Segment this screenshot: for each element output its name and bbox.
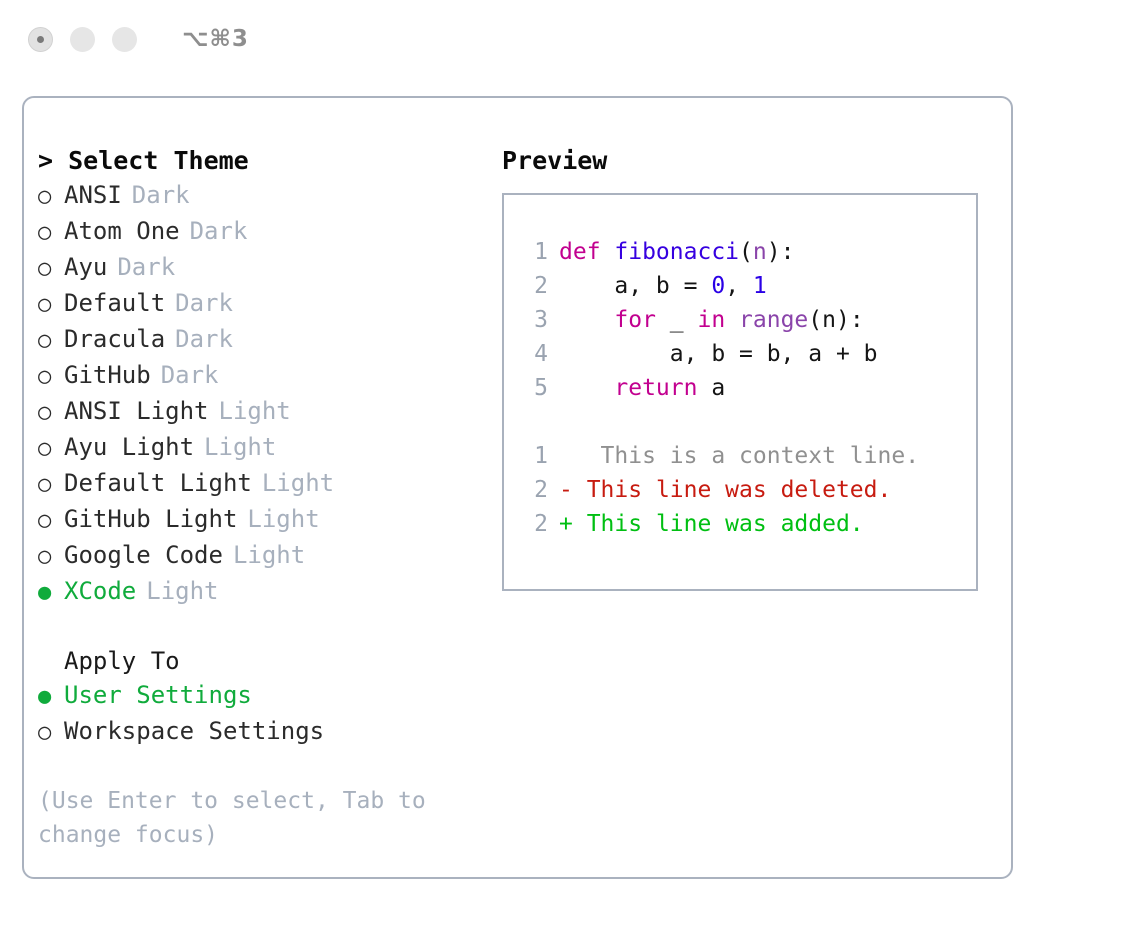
theme-option-ansi-light[interactable]: ○ANSI LightLight [38, 394, 468, 430]
line-number: 1 [518, 439, 548, 473]
radio-unselected-icon: ○ [38, 716, 64, 750]
code-line-content: a, b = 0, 1 [559, 269, 767, 303]
code-token: range [739, 307, 808, 333]
code-token: ( [739, 239, 753, 265]
theme-option-label: Dracula [64, 322, 165, 356]
radio-unselected-icon: ○ [38, 468, 64, 502]
theme-option-label: Atom One [64, 214, 180, 248]
theme-option-github[interactable]: ○GitHubDark [38, 358, 468, 394]
theme-option-atom-one[interactable]: ○Atom OneDark [38, 214, 468, 250]
theme-variant-badge: Light [204, 430, 276, 464]
preview-column: Preview 1def fibonacci(n):2 a, b = 0, 13… [502, 144, 1002, 591]
code-token: (n): [808, 307, 863, 333]
radio-unselected-icon: ○ [38, 216, 64, 250]
line-number: 5 [518, 371, 548, 405]
radio-unselected-icon: ○ [38, 180, 64, 214]
theme-variant-badge: Dark [175, 322, 233, 356]
theme-option-ayu[interactable]: ○AyuDark [38, 250, 468, 286]
theme-option-dracula[interactable]: ○DraculaDark [38, 322, 468, 358]
theme-selection-column: > Select Theme ○ANSIDark○Atom OneDark○Ay… [38, 144, 468, 852]
diff-sign: - [559, 473, 573, 507]
radio-unselected-icon: ○ [38, 360, 64, 394]
theme-variant-badge: Dark [190, 214, 248, 248]
code-token: a [697, 375, 725, 401]
radio-unselected-icon: ○ [38, 288, 64, 322]
theme-variant-badge: Dark [117, 250, 175, 284]
line-number: 2 [518, 507, 548, 541]
code-line-content: a, b = b, a + b [559, 337, 878, 371]
window-controls [28, 27, 137, 52]
apply-to-option-workspace-settings[interactable]: ○Workspace Settings [38, 714, 468, 750]
line-number: 3 [518, 303, 548, 337]
radio-unselected-icon: ○ [38, 252, 64, 286]
code-line: 4 a, b = b, a + b [518, 337, 976, 371]
code-token: a, b = b, a + b [559, 341, 878, 367]
list-spacer [38, 610, 468, 644]
diff-line-content: This is a context line. [573, 439, 919, 473]
code-line: 3 for _ in range(n): [518, 303, 976, 337]
code-token: n [753, 239, 767, 265]
line-number: 2 [518, 473, 548, 507]
theme-option-xcode[interactable]: ●XCodeLight [38, 574, 468, 610]
code-token: ): [767, 239, 795, 265]
diff-line-content: This line was deleted. [573, 473, 892, 507]
main-panel: > Select Theme ○ANSIDark○Atom OneDark○Ay… [22, 96, 1013, 879]
code-sample: 1def fibonacci(n):2 a, b = 0, 13 for _ i… [518, 235, 976, 405]
theme-option-label: XCode [64, 574, 136, 608]
theme-option-google-code[interactable]: ○Google CodeLight [38, 538, 468, 574]
line-number: 2 [518, 269, 548, 303]
apply-to-option-label: Workspace Settings [64, 714, 324, 748]
code-token [559, 375, 614, 401]
window-button-tertiary[interactable] [112, 27, 137, 52]
keyboard-shortcut-label: ⌥⌘3 [182, 26, 249, 52]
theme-variant-badge: Dark [161, 358, 219, 392]
diff-line-content: This line was added. [573, 507, 864, 541]
theme-option-label: Ayu Light [64, 430, 194, 464]
theme-option-label: Ayu [64, 250, 107, 284]
apply-to-list: ●User Settings○Workspace Settings [38, 678, 468, 750]
code-token: in [697, 307, 725, 333]
theme-option-label: GitHub Light [64, 502, 237, 536]
radio-unselected-icon: ○ [38, 540, 64, 574]
code-token: def [559, 239, 614, 265]
code-token: for [614, 307, 656, 333]
apply-to-option-label: User Settings [64, 678, 252, 712]
theme-option-label: Default [64, 286, 165, 320]
theme-option-default-light[interactable]: ○Default LightLight [38, 466, 468, 502]
theme-list: ○ANSIDark○Atom OneDark○AyuDark○DefaultDa… [38, 178, 468, 610]
code-token: 0 [711, 273, 725, 299]
diff-line: 2- This line was deleted. [518, 473, 976, 507]
title-bar: ⌥⌘3 [0, 0, 1140, 78]
radio-unselected-icon: ○ [38, 504, 64, 538]
diff-sample: 1 This is a context line.2- This line wa… [518, 439, 976, 541]
radio-unselected-icon: ○ [38, 432, 64, 466]
theme-option-label: Google Code [64, 538, 223, 572]
diff-line: 2+ This line was added. [518, 507, 976, 541]
theme-option-ayu-light[interactable]: ○Ayu LightLight [38, 430, 468, 466]
theme-variant-badge: Light [233, 538, 305, 572]
radio-unselected-icon: ○ [38, 324, 64, 358]
code-line-content: def fibonacci(n): [559, 235, 794, 269]
radio-selected-icon: ● [38, 576, 64, 610]
preview-heading: Preview [502, 144, 1002, 178]
code-token [559, 307, 614, 333]
panel-columns: > Select Theme ○ANSIDark○Atom OneDark○Ay… [24, 98, 1011, 877]
apply-to-option-user-settings[interactable]: ●User Settings [38, 678, 468, 714]
code-token: return [614, 375, 697, 401]
code-token [725, 307, 739, 333]
theme-variant-badge: Light [219, 394, 291, 428]
code-token: 1 [753, 273, 767, 299]
line-number: 1 [518, 235, 548, 269]
keyboard-hint-text: (Use Enter to select, Tab to change focu… [38, 784, 448, 852]
line-number: 4 [518, 337, 548, 371]
code-token: a, b = [559, 273, 711, 299]
app-window: ⌥⌘3 > Select Theme ○ANSIDark○Atom OneDar… [0, 0, 1140, 934]
code-token: fibonacci [614, 239, 739, 265]
diff-sign: + [559, 507, 573, 541]
theme-option-label: ANSI Light [64, 394, 209, 428]
radio-selected-icon: ● [38, 680, 64, 714]
window-button-primary[interactable] [28, 27, 53, 52]
theme-option-label: Default Light [64, 466, 252, 500]
theme-variant-badge: Dark [132, 178, 190, 212]
theme-variant-badge: Light [146, 574, 218, 608]
window-button-secondary[interactable] [70, 27, 95, 52]
theme-option-label: GitHub [64, 358, 151, 392]
code-token: _ [656, 307, 698, 333]
code-line: 2 a, b = 0, 1 [518, 269, 976, 303]
theme-option-label: ANSI [64, 178, 122, 212]
theme-variant-badge: Light [247, 502, 319, 536]
diff-sign [559, 439, 573, 473]
theme-variant-badge: Dark [175, 286, 233, 320]
theme-option-github-light[interactable]: ○GitHub LightLight [38, 502, 468, 538]
theme-option-ansi[interactable]: ○ANSIDark [38, 178, 468, 214]
code-line-content: for _ in range(n): [559, 303, 864, 337]
code-line-content: return a [559, 371, 725, 405]
code-line: 5 return a [518, 371, 976, 405]
code-line: 1def fibonacci(n): [518, 235, 976, 269]
select-theme-heading: > Select Theme [38, 144, 468, 178]
preview-box: 1def fibonacci(n):2 a, b = 0, 13 for _ i… [502, 193, 978, 591]
theme-option-default[interactable]: ○DefaultDark [38, 286, 468, 322]
code-token: , [725, 273, 753, 299]
code-diff-gap [518, 405, 976, 439]
window-button-primary-dot [37, 36, 44, 43]
diff-line: 1 This is a context line. [518, 439, 976, 473]
apply-to-heading: Apply To [38, 644, 468, 678]
theme-variant-badge: Light [262, 466, 334, 500]
radio-unselected-icon: ○ [38, 396, 64, 430]
